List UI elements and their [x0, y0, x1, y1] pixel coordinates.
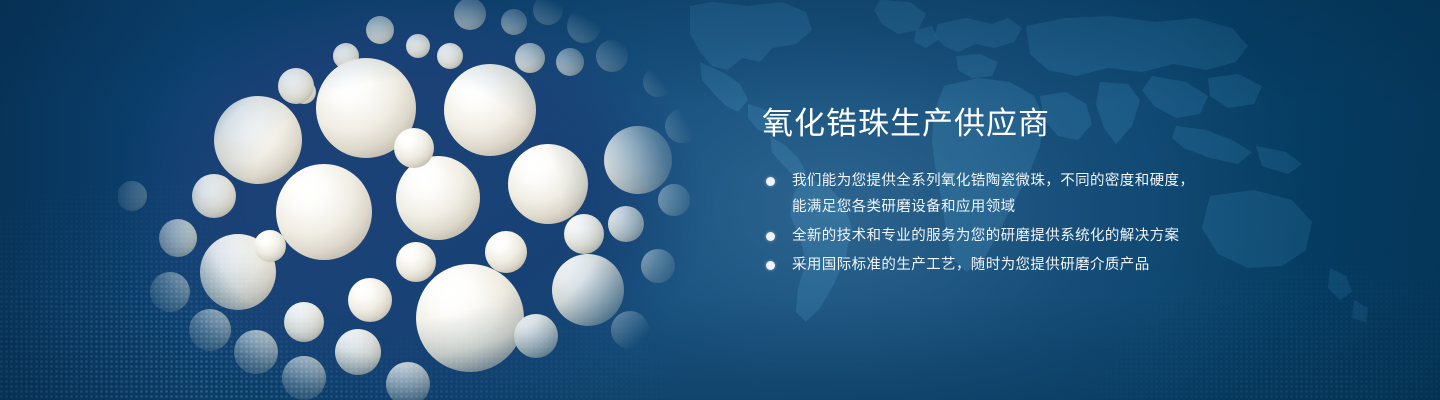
bullet-text-1: 我们能为您提供全系列氧化锆陶瓷微珠，不同的密度和硬度， 能满足您各类研磨设备和应…: [792, 168, 1322, 220]
zirconia-beads-photo: [118, 0, 718, 400]
bullet-text-3: 采用国际标准的生产工艺，随时为您提供研磨介质产品: [792, 252, 1322, 278]
banner-copy: 氧化锆珠生产供应商 我们能为您提供全系列氧化锆陶瓷微珠，不同的密度和硬度， 能满…: [762, 104, 1322, 281]
bullet-item-2: 全新的技术和专业的服务为您的研磨提供系统化的解决方案: [762, 223, 1322, 249]
bullet-line-1b: 能满足您各类研磨设备和应用领域: [792, 194, 1322, 220]
banner-bullet-list: 我们能为您提供全系列氧化锆陶瓷微珠，不同的密度和硬度， 能满足您各类研磨设备和应…: [762, 168, 1322, 278]
bullet-dot-icon: [766, 232, 775, 241]
bullet-dot-icon: [766, 261, 775, 270]
bullet-text-2: 全新的技术和专业的服务为您的研磨提供系统化的解决方案: [792, 223, 1322, 249]
banner-headline: 氧化锆珠生产供应商: [762, 104, 1322, 144]
bullet-line-2a: 全新的技术和专业的服务为您的研磨提供系统化的解决方案: [792, 228, 1179, 244]
bullet-item-3: 采用国际标准的生产工艺，随时为您提供研磨介质产品: [762, 252, 1322, 278]
bullet-item-1: 我们能为您提供全系列氧化锆陶瓷微珠，不同的密度和硬度， 能满足您各类研磨设备和应…: [762, 168, 1322, 220]
bullet-line-1a: 我们能为您提供全系列氧化锆陶瓷微珠，不同的密度和硬度，: [792, 173, 1194, 189]
bullet-line-3a: 采用国际标准的生产工艺，随时为您提供研磨介质产品: [792, 257, 1150, 273]
hero-banner: 氧化锆珠生产供应商 我们能为您提供全系列氧化锆陶瓷微珠，不同的密度和硬度， 能满…: [0, 0, 1440, 400]
bullet-dot-icon: [766, 177, 775, 186]
